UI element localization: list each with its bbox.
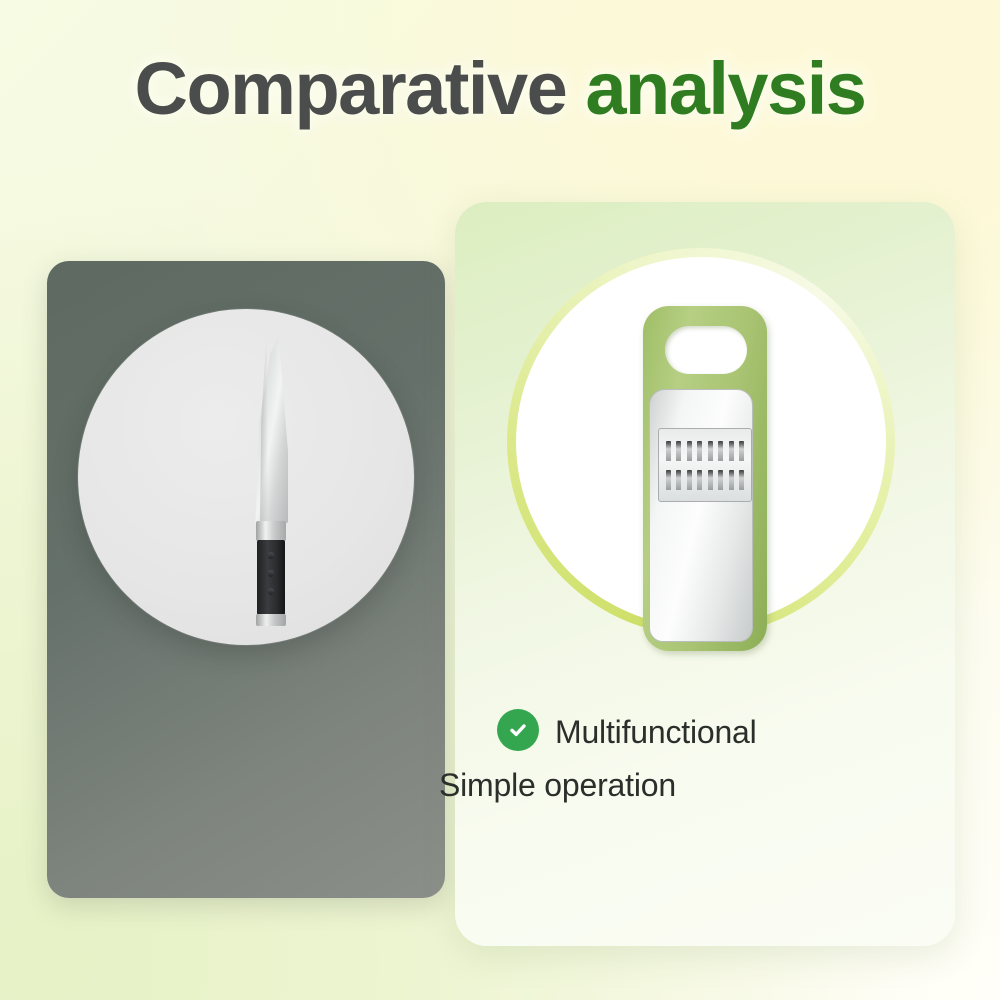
ours-feature-list: Multifunctional Simple operation [497, 706, 897, 812]
ours-feature-item: Multifunctional [555, 706, 757, 759]
comparison-infographic: Comparative analysis [0, 0, 1000, 1000]
knife-rivet [268, 588, 275, 595]
others-card: Single function Labor-intensive OTHERS [47, 261, 445, 898]
grater-hang-hole [665, 326, 747, 374]
ours-feature-head: Multifunctional [497, 706, 897, 759]
others-product-circle [78, 309, 414, 645]
grater-blade-row [666, 470, 744, 490]
grater-blade-panel [658, 428, 752, 502]
page-title-accent: analysis [585, 47, 865, 130]
knife-blade [254, 335, 288, 523]
grater-plate [649, 389, 753, 642]
knife-handle [257, 540, 285, 616]
chef-knife-icon [242, 335, 296, 627]
ours-feature-text: Multifunctional [555, 706, 757, 759]
check-circle-icon [497, 709, 539, 751]
knife-rivet [268, 570, 275, 577]
page-title-space [566, 47, 585, 130]
ours-card: OURS [455, 202, 955, 946]
page-title: Comparative analysis [0, 46, 1000, 131]
page-title-primary: Comparative [135, 47, 567, 130]
knife-rivet [268, 552, 275, 559]
knife-bolster [256, 521, 286, 541]
grater-blade-row [666, 441, 744, 461]
ours-feature-item: Simple operation [439, 759, 897, 812]
knife-butt-cap [256, 614, 286, 626]
handheld-grater-icon [643, 306, 767, 651]
